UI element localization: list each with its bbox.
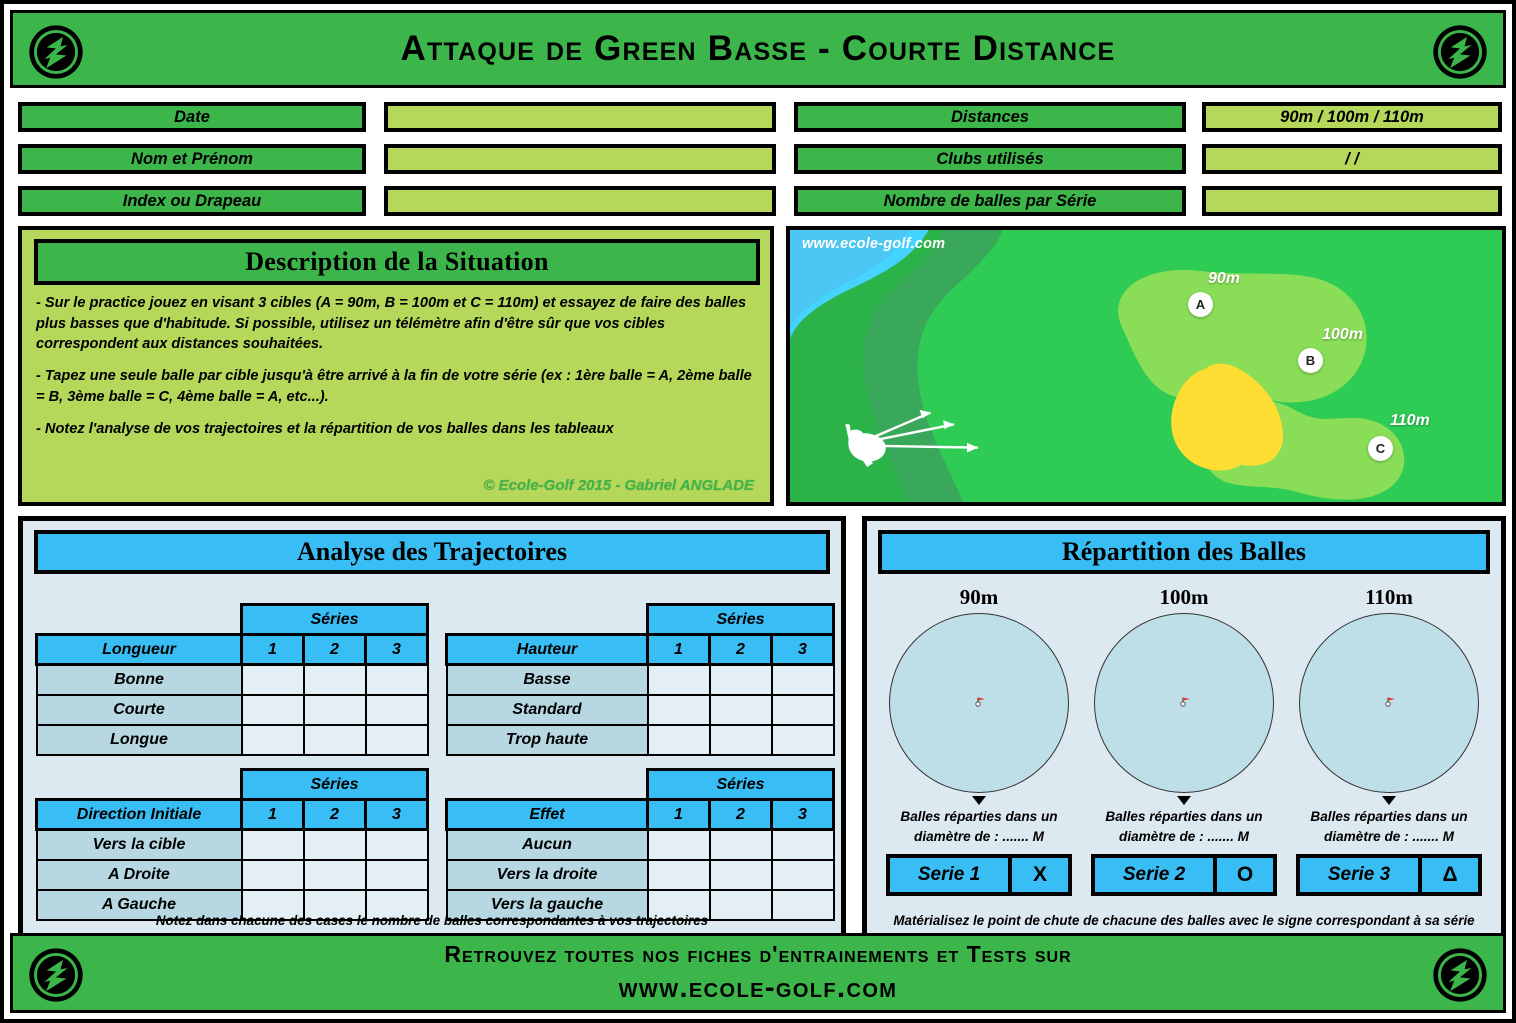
repartition-title-box: Répartition des Balles bbox=[878, 530, 1490, 574]
row-label-longue: Longue bbox=[37, 725, 242, 755]
serie-symbol-x-icon: X bbox=[1012, 858, 1068, 892]
target-pin-b: B bbox=[1298, 348, 1323, 373]
cell-hauteur-trophaute-2[interactable] bbox=[710, 725, 772, 755]
table-row: Vers la droite bbox=[447, 860, 834, 890]
repartition-column-90m: 90m Balles réparties dans un diamètre de… bbox=[881, 585, 1077, 896]
table-row: Bonne bbox=[37, 665, 428, 695]
cell-longueur-longue-1[interactable] bbox=[242, 725, 304, 755]
series-header: Séries bbox=[648, 770, 834, 800]
cell-direction-droite-1[interactable] bbox=[242, 860, 304, 890]
cell-hauteur-standard-1[interactable] bbox=[648, 695, 710, 725]
table-longueur: Séries Longueur 1 2 3 Bonne bbox=[35, 603, 429, 756]
category-header-longueur: Longueur bbox=[37, 635, 242, 665]
label-nom-prenom: Nom et Prénom bbox=[18, 144, 366, 174]
repartition-distance-100m: 100m bbox=[1086, 585, 1282, 610]
cell-hauteur-standard-3[interactable] bbox=[772, 695, 834, 725]
cell-hauteur-trophaute-3[interactable] bbox=[772, 725, 834, 755]
row-label-standard: Standard bbox=[447, 695, 648, 725]
course-website-url: www.ecole-golf.com bbox=[802, 236, 945, 252]
cell-direction-cible-2[interactable] bbox=[304, 830, 366, 860]
cell-hauteur-basse-1[interactable] bbox=[648, 665, 710, 695]
series-number-2: 2 bbox=[304, 635, 366, 665]
table-row: A Droite bbox=[37, 860, 428, 890]
repartition-caption-90m: Balles réparties dans un diamètre de : .… bbox=[881, 807, 1077, 846]
repartition-caption-110m: Balles réparties dans un diamètre de : .… bbox=[1291, 807, 1487, 846]
row-label-a-droite: A Droite bbox=[37, 860, 242, 890]
down-arrow-icon bbox=[972, 796, 986, 805]
series-number-3: 3 bbox=[772, 800, 834, 830]
repartition-panel: Répartition des Balles 90m Balles répart… bbox=[862, 516, 1506, 940]
row-label-vers-la-cible: Vers la cible bbox=[37, 830, 242, 860]
trajectories-panel: Analyse des Trajectoires Séries Longueur… bbox=[18, 516, 846, 940]
description-paragraph: - Tapez une seule balle par cible jusqu'… bbox=[36, 366, 756, 407]
cell-longueur-bonne-1[interactable] bbox=[242, 665, 304, 695]
cell-longueur-courte-3[interactable] bbox=[366, 695, 428, 725]
description-paragraph: - Notez l'analyse de vos trajectoires et… bbox=[36, 419, 756, 440]
table-row: Effet 1 2 3 bbox=[447, 800, 834, 830]
input-clubs-utilises[interactable]: / / bbox=[1202, 144, 1502, 174]
table-row: Séries bbox=[37, 770, 428, 800]
ecole-golf-logo-icon bbox=[1431, 23, 1489, 81]
footer-line-1: Retrouvez toutes nos fiches d'entraineme… bbox=[444, 941, 1071, 968]
form-row-name: Nom et Prénom Clubs utilisés / / bbox=[10, 144, 1506, 174]
form-fields: Date Distances 90m / 100m / 110m Nom et … bbox=[10, 96, 1506, 218]
label-clubs-utilises: Clubs utilisés bbox=[794, 144, 1186, 174]
series-header: Séries bbox=[648, 605, 834, 635]
table-row: Courte bbox=[37, 695, 428, 725]
cell-hauteur-basse-2[interactable] bbox=[710, 665, 772, 695]
down-arrow-icon bbox=[1382, 796, 1396, 805]
cell-effet-droite-2[interactable] bbox=[710, 860, 772, 890]
table-row: Séries bbox=[447, 770, 834, 800]
table-row: Standard bbox=[447, 695, 834, 725]
description-title: Description de la Situation bbox=[245, 247, 549, 277]
cell-longueur-courte-2[interactable] bbox=[304, 695, 366, 725]
flag-pin-icon bbox=[972, 694, 986, 713]
table-longueur-wrap: Séries Longueur 1 2 3 Bonne bbox=[35, 587, 445, 752]
series-number-1: 1 bbox=[242, 800, 304, 830]
description-panel: Description de la Situation - Sur le pra… bbox=[18, 226, 774, 506]
form-row-date: Date Distances 90m / 100m / 110m bbox=[10, 102, 1506, 132]
target-label-100m: 100m bbox=[1322, 326, 1363, 344]
down-arrow-icon bbox=[1177, 796, 1191, 805]
label-index-drapeau: Index ou Drapeau bbox=[18, 186, 366, 216]
serie-label-2: Serie 2 bbox=[1095, 858, 1217, 892]
trajectories-note: Notez dans chacune des cases le nombre d… bbox=[23, 913, 841, 928]
cell-longueur-bonne-2[interactable] bbox=[304, 665, 366, 695]
series-number-2: 2 bbox=[710, 635, 772, 665]
table-row: Vers la cible bbox=[37, 830, 428, 860]
series-header: Séries bbox=[242, 605, 428, 635]
dispersion-circle-90m[interactable] bbox=[889, 613, 1069, 793]
trajectories-title-box: Analyse des Trajectoires bbox=[34, 530, 830, 574]
dispersion-circle-100m[interactable] bbox=[1094, 613, 1274, 793]
serie-legend-2: Serie 2 O bbox=[1091, 854, 1277, 896]
course-illustration: www.ecole-golf.com 90m A 100m B 110m C bbox=[786, 226, 1506, 506]
table-hauteur: Séries Hauteur 1 2 3 Basse bbox=[445, 603, 835, 756]
table-direction-initiale: Séries Direction Initiale 1 2 3 Vers la … bbox=[35, 768, 429, 921]
serie-symbol-o-icon: O bbox=[1217, 858, 1273, 892]
serie-label-1: Serie 1 bbox=[890, 858, 1012, 892]
table-effet-wrap: Séries Effet 1 2 3 Aucun bbox=[445, 752, 839, 917]
cell-longueur-longue-2[interactable] bbox=[304, 725, 366, 755]
repartition-distance-110m: 110m bbox=[1291, 585, 1487, 610]
course-map-graphic bbox=[790, 230, 1502, 502]
cell-longueur-longue-3[interactable] bbox=[366, 725, 428, 755]
row-label-aucun: Aucun bbox=[447, 830, 648, 860]
target-label-110m: 110m bbox=[1390, 412, 1430, 430]
category-header-hauteur: Hauteur bbox=[447, 635, 648, 665]
series-header: Séries bbox=[242, 770, 428, 800]
serie-legend-3: Serie 3 Δ bbox=[1296, 854, 1482, 896]
table-row: Hauteur 1 2 3 bbox=[447, 635, 834, 665]
row-label-courte: Courte bbox=[37, 695, 242, 725]
flag-pin-icon bbox=[1177, 694, 1191, 713]
cell-direction-cible-3[interactable] bbox=[366, 830, 428, 860]
table-row: Séries bbox=[447, 605, 834, 635]
row-label-bonne: Bonne bbox=[37, 665, 242, 695]
dispersion-circle-110m[interactable] bbox=[1299, 613, 1479, 793]
table-row: Longueur 1 2 3 bbox=[37, 635, 428, 665]
row-label-vers-la-droite: Vers la droite bbox=[447, 860, 648, 890]
input-nombre-balles[interactable] bbox=[1202, 186, 1502, 216]
spacer bbox=[37, 605, 242, 635]
table-row: Aucun bbox=[447, 830, 834, 860]
repartition-column-100m: 100m Balles réparties dans un diamètre d… bbox=[1086, 585, 1282, 896]
serie-symbol-triangle-icon: Δ bbox=[1422, 858, 1478, 892]
category-header-direction: Direction Initiale bbox=[37, 800, 242, 830]
category-header-effet: Effet bbox=[447, 800, 648, 830]
series-number-1: 1 bbox=[648, 800, 710, 830]
cell-effet-aucun-3[interactable] bbox=[772, 830, 834, 860]
page-title: Attaque de Green Basse - Courte Distance bbox=[401, 29, 1116, 69]
target-label-90m: 90m bbox=[1208, 270, 1240, 288]
repartition-columns: 90m Balles réparties dans un diamètre de… bbox=[881, 585, 1487, 896]
cell-longueur-courte-1[interactable] bbox=[242, 695, 304, 725]
table-row: Longue bbox=[37, 725, 428, 755]
series-number-1: 1 bbox=[242, 635, 304, 665]
table-row: Séries bbox=[37, 605, 428, 635]
cell-effet-droite-1[interactable] bbox=[648, 860, 710, 890]
input-index-drapeau[interactable] bbox=[384, 186, 776, 216]
series-number-2: 2 bbox=[710, 800, 772, 830]
description-title-box: Description de la Situation bbox=[34, 239, 760, 285]
cell-hauteur-trophaute-1[interactable] bbox=[648, 725, 710, 755]
footer-website-link[interactable]: www.ecole-golf.com bbox=[619, 972, 898, 1005]
spacer bbox=[37, 770, 242, 800]
label-distances: Distances bbox=[794, 102, 1186, 132]
cell-effet-droite-3[interactable] bbox=[772, 860, 834, 890]
trajectories-tables: Séries Longueur 1 2 3 Bonne bbox=[35, 587, 839, 917]
trajectories-title: Analyse des Trajectoires bbox=[297, 537, 567, 567]
footer-banner: Retrouvez toutes nos fiches d'entraineme… bbox=[10, 933, 1506, 1013]
cell-direction-droite-3[interactable] bbox=[366, 860, 428, 890]
table-effet: Séries Effet 1 2 3 Aucun bbox=[445, 768, 835, 921]
series-number-3: 3 bbox=[772, 635, 834, 665]
label-nombre-balles: Nombre de balles par Série bbox=[794, 186, 1186, 216]
header-banner: Attaque de Green Basse - Courte Distance bbox=[10, 10, 1506, 88]
repartition-caption-100m: Balles réparties dans un diamètre de : .… bbox=[1086, 807, 1282, 846]
form-row-index: Index ou Drapeau Nombre de balles par Sé… bbox=[10, 186, 1506, 216]
row-label-trop-haute: Trop haute bbox=[447, 725, 648, 755]
ecole-golf-logo-icon bbox=[1431, 946, 1489, 1004]
series-number-2: 2 bbox=[304, 800, 366, 830]
cell-direction-cible-1[interactable] bbox=[242, 830, 304, 860]
serie-label-3: Serie 3 bbox=[1300, 858, 1422, 892]
description-body: - Sur le practice jouez en visant 3 cibl… bbox=[22, 285, 770, 439]
series-number-1: 1 bbox=[648, 635, 710, 665]
input-distances[interactable]: 90m / 100m / 110m bbox=[1202, 102, 1502, 132]
cell-effet-aucun-1[interactable] bbox=[648, 830, 710, 860]
series-number-3: 3 bbox=[366, 635, 428, 665]
row-label-basse: Basse bbox=[447, 665, 648, 695]
repartition-title: Répartition des Balles bbox=[1062, 537, 1306, 567]
cell-direction-droite-2[interactable] bbox=[304, 860, 366, 890]
label-date: Date bbox=[18, 102, 366, 132]
repartition-column-110m: 110m Balles réparties dans un diamètre d… bbox=[1291, 585, 1487, 896]
flag-pin-icon bbox=[1382, 694, 1396, 713]
table-row: Direction Initiale 1 2 3 bbox=[37, 800, 428, 830]
input-nom-prenom[interactable] bbox=[384, 144, 776, 174]
series-number-3: 3 bbox=[366, 800, 428, 830]
input-date[interactable] bbox=[384, 102, 776, 132]
spacer bbox=[447, 605, 648, 635]
table-direction-wrap: Séries Direction Initiale 1 2 3 Vers la … bbox=[35, 752, 445, 917]
serie-legend-1: Serie 1 X bbox=[886, 854, 1072, 896]
spacer bbox=[447, 770, 648, 800]
cell-hauteur-standard-2[interactable] bbox=[710, 695, 772, 725]
ecole-golf-logo-icon bbox=[27, 946, 85, 1004]
table-row: Basse bbox=[447, 665, 834, 695]
ecole-golf-logo-icon bbox=[27, 23, 85, 81]
repartition-note: Matérialisez le point de chute de chacun… bbox=[867, 913, 1501, 928]
repartition-distance-90m: 90m bbox=[881, 585, 1077, 610]
cell-effet-aucun-2[interactable] bbox=[710, 830, 772, 860]
description-paragraph: - Sur le practice jouez en visant 3 cibl… bbox=[36, 293, 756, 355]
table-hauteur-wrap: Séries Hauteur 1 2 3 Basse bbox=[445, 587, 839, 752]
table-row: Trop haute bbox=[447, 725, 834, 755]
target-pin-a: A bbox=[1188, 292, 1213, 317]
target-pin-c: C bbox=[1368, 436, 1393, 461]
cell-longueur-bonne-3[interactable] bbox=[366, 665, 428, 695]
copyright-credit: © Ecole-Golf 2015 - Gabriel ANGLADE bbox=[483, 477, 754, 494]
cell-hauteur-basse-3[interactable] bbox=[772, 665, 834, 695]
worksheet-page: Attaque de Green Basse - Courte Distance… bbox=[0, 0, 1516, 1023]
